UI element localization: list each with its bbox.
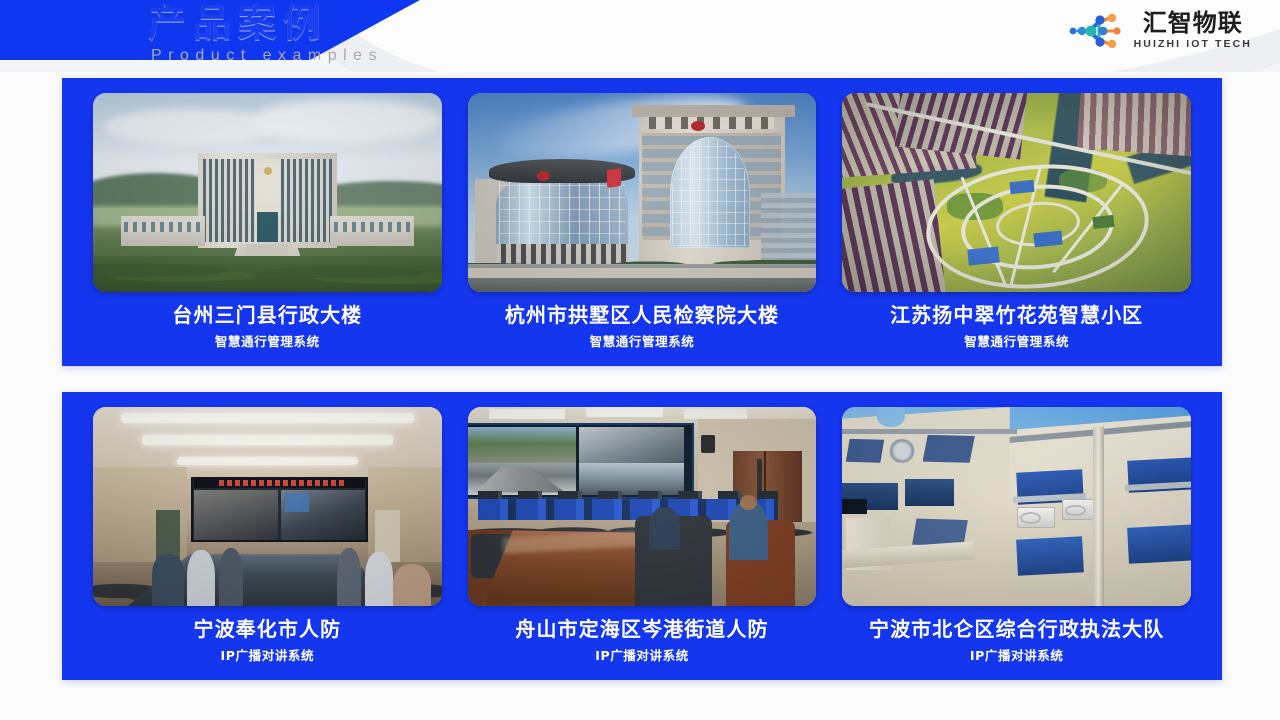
case-card-title: 台州三门县行政大楼 <box>172 303 362 327</box>
case-card-subtitle: IP广播对讲系统 <box>970 648 1064 664</box>
brand-name-cn: 汇智物联 <box>1143 10 1243 37</box>
case-card-subtitle: 智慧通行管理系统 <box>964 334 1069 350</box>
photo-jiangsu-yangzhong-cuizhu-community <box>842 93 1191 292</box>
photo-hangzhou-gongshu-procuratorate <box>468 93 817 292</box>
ip-broadcast-row-panel: 宁波奉化市人防 IP广播对讲系统 <box>62 392 1222 680</box>
case-card-title: 宁波市北仑区综合行政执法大队 <box>869 617 1164 641</box>
case-card[interactable]: 宁波奉化市人防 IP广播对讲系统 <box>80 407 455 680</box>
smart-access-row-panel: 台州三门县行政大楼 智慧通行管理系统 杭州市拱墅区人民检察院大楼 <box>62 78 1222 366</box>
case-card[interactable]: 台州三门县行政大楼 智慧通行管理系统 <box>80 93 455 366</box>
photo-taizhou-sanmen-admin-building <box>93 93 442 292</box>
photo-ningbo-beilun-law-enforcement <box>842 407 1191 606</box>
case-card-subtitle: 智慧通行管理系统 <box>590 334 695 350</box>
case-card[interactable]: 杭州市拱墅区人民检察院大楼 智慧通行管理系统 <box>455 93 830 366</box>
case-card-title: 江苏扬中翠竹花苑智慧小区 <box>890 303 1143 327</box>
case-card-subtitle: 智慧通行管理系统 <box>215 334 320 350</box>
case-card[interactable]: 舟山市定海区岑港街道人防 IP广播对讲系统 <box>455 407 830 680</box>
page-title: 产品案例 <box>148 0 383 46</box>
case-card-title: 舟山市定海区岑港街道人防 <box>515 617 768 641</box>
photo-ningbo-fenghua-civil-defense <box>93 407 442 606</box>
case-card-subtitle: IP广播对讲系统 <box>595 648 689 664</box>
card-list-top: 台州三门县行政大楼 智慧通行管理系统 杭州市拱墅区人民检察院大楼 <box>62 78 1222 366</box>
photo-zhoushan-dinghai-cengang-civil-defense <box>468 407 817 606</box>
brand-logo-text: 汇智物联 HUIZHI IOT TECH <box>1134 10 1252 51</box>
molecule-network-icon <box>1067 12 1125 50</box>
case-card[interactable]: 宁波市北仑区综合行政执法大队 IP广播对讲系统 <box>829 407 1204 680</box>
case-card-subtitle: IP广播对讲系统 <box>221 648 315 664</box>
slide-header: 产品案例 Product examples <box>0 0 1280 72</box>
case-card-title: 杭州市拱墅区人民检察院大楼 <box>505 303 779 327</box>
brand-logo[interactable]: 汇智物联 HUIZHI IOT TECH <box>1067 10 1252 51</box>
brand-name-en: HUIZHI IOT TECH <box>1134 38 1252 51</box>
case-card-title: 宁波奉化市人防 <box>193 617 341 641</box>
page-title-group: 产品案例 Product examples <box>148 0 383 65</box>
slide-root: 产品案例 Product examples <box>0 0 1280 720</box>
case-card[interactable]: 江苏扬中翠竹花苑智慧小区 智慧通行管理系统 <box>829 93 1204 366</box>
page-subtitle: Product examples <box>151 47 383 65</box>
card-list-bottom: 宁波奉化市人防 IP广播对讲系统 <box>62 392 1222 680</box>
